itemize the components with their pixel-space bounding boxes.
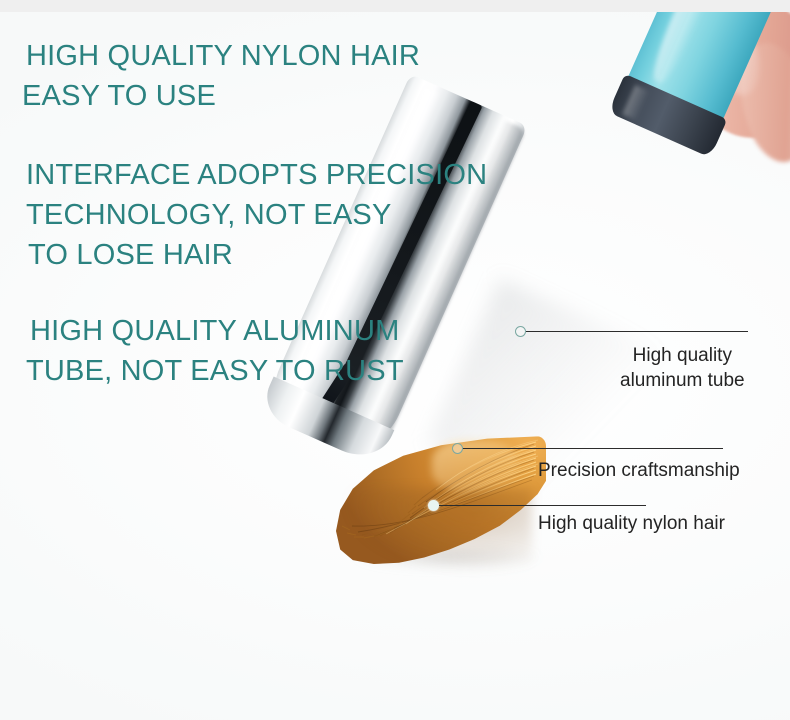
copy-line: HIGH QUALITY NYLON HAIR <box>26 36 420 76</box>
copy-block-aluminum-tube: HIGH QUALITY ALUMINUM TUBE, NOT EASY TO … <box>30 311 404 391</box>
callout-leader-line <box>439 505 646 506</box>
copy-line: INTERFACE ADOPTS PRECISION <box>26 155 487 195</box>
callout-label: Precision craftsmanship <box>538 458 740 483</box>
callout-label: High quality aluminum tube <box>620 343 745 393</box>
copy-line: TUBE, NOT EASY TO RUST <box>26 351 404 391</box>
callout-marker-ring-icon <box>452 443 463 454</box>
copy-block-nylon-hair: HIGH QUALITY NYLON HAIR EASY TO USE <box>26 36 420 116</box>
callout-leader-line <box>463 448 723 449</box>
callout-marker-ring-icon <box>515 326 526 337</box>
product-feature-image: HIGH QUALITY NYLON HAIR EASY TO USE INTE… <box>0 0 790 720</box>
callout-label-line-2: aluminum tube <box>620 368 745 393</box>
callout-label-line-1: High quality <box>620 343 745 368</box>
copy-line: TO LOSE HAIR <box>28 235 487 275</box>
copy-line: TECHNOLOGY, NOT EASY <box>26 195 487 235</box>
callout-leader-line <box>526 331 748 332</box>
copy-line: HIGH QUALITY ALUMINUM <box>30 311 404 351</box>
callout-label: High quality nylon hair <box>538 511 725 536</box>
nylon-bristle-fan <box>336 436 546 576</box>
copy-block-precision-interface: INTERFACE ADOPTS PRECISION TECHNOLOGY, N… <box>26 155 487 275</box>
top-gray-strip <box>0 0 790 12</box>
copy-line: EASY TO USE <box>22 76 420 116</box>
callout-marker-dot-icon <box>428 500 439 511</box>
